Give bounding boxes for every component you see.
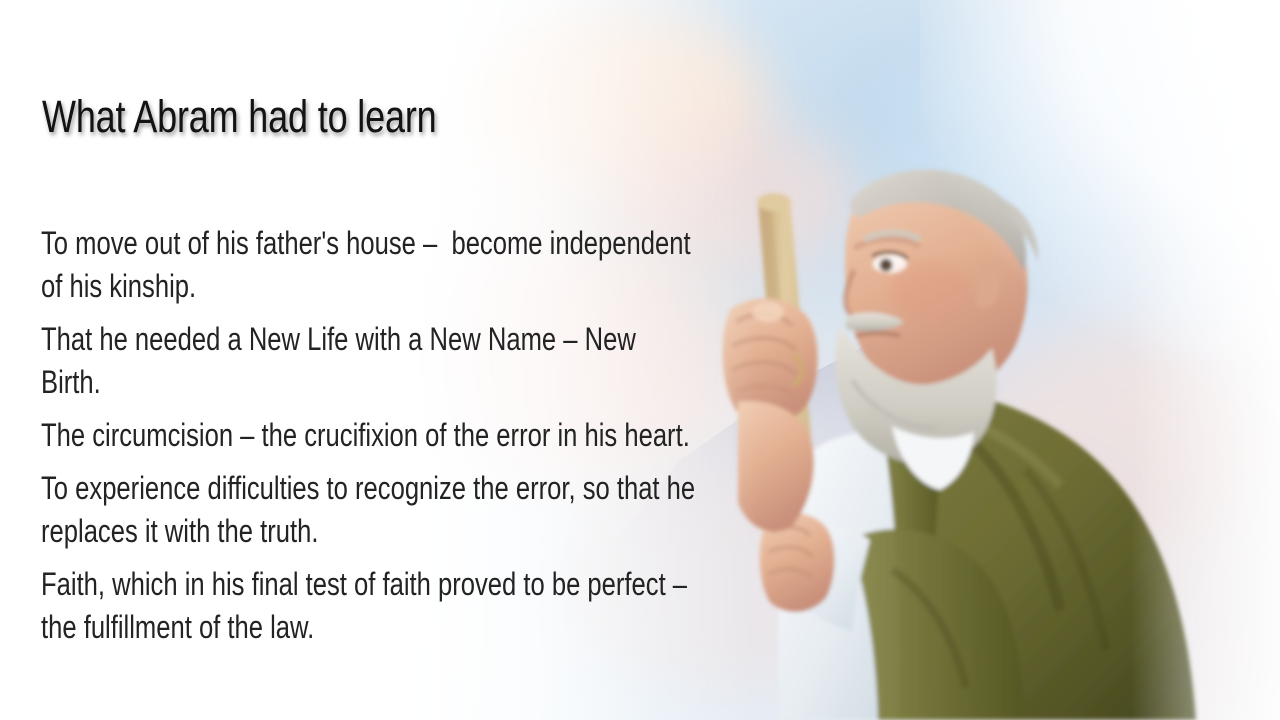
presentation-slide: What Abram had to learn To move out of h… bbox=[0, 0, 1280, 720]
slide-body: To move out of his father's house – beco… bbox=[41, 222, 701, 649]
bullet-paragraph: To move out of his father's house – beco… bbox=[41, 222, 701, 308]
right-edge-fade bbox=[1130, 0, 1280, 720]
bullet-paragraph: Faith, which in his final test of faith … bbox=[41, 563, 701, 649]
bullet-paragraph: To experience difficulties to recognize … bbox=[41, 467, 701, 553]
slide-title: What Abram had to learn bbox=[42, 92, 437, 142]
bullet-paragraph: That he needed a New Life with a New Nam… bbox=[41, 318, 701, 404]
bullet-paragraph: The circumcision – the crucifixion of th… bbox=[41, 414, 701, 457]
